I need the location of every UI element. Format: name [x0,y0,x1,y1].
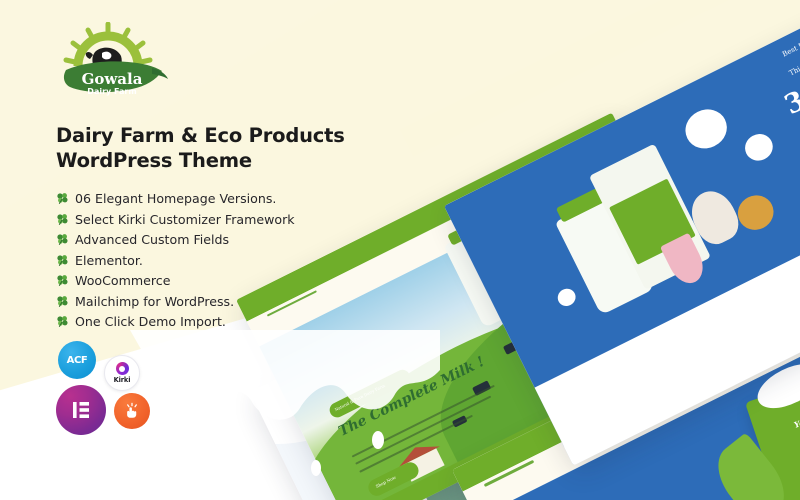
clover-leaf-icon [56,295,69,308]
clover-leaf-icon [56,274,69,287]
click-pointer-glyph-icon [123,402,141,420]
feature-list: 06 Elegant Homepage Versions. Select Kir… [56,191,356,330]
feature-item: Elementor. [56,253,356,268]
feature-label: Advanced Custom Fields [75,232,229,247]
logo-artwork: Gowala Dairy Farm [60,22,172,104]
page-title-line1: Dairy Farm & Eco Products [56,124,356,149]
feature-label: 06 Elegant Homepage Versions. [75,191,276,206]
logo-brand-text: Gowala [82,70,143,88]
page-title: Dairy Farm & Eco Products WordPress Them… [56,124,356,174]
clover-leaf-icon [56,192,69,205]
feature-label: Elementor. [75,253,143,268]
feature-label: Select Kirki Customizer Framework [75,212,295,227]
feature-item: One Click Demo Import. [56,314,356,329]
one-click-hand-icon[interactable] [114,393,150,429]
feature-item: 06 Elegant Homepage Versions. [56,191,356,206]
feature-item: Advanced Custom Fields [56,232,356,247]
feature-label: Mailchimp for WordPress. [75,294,234,309]
feature-label: WooCommerce [75,273,170,288]
kirki-ring-icon [116,362,129,375]
poster-canvas: Farm Gallery [0,0,800,500]
clover-leaf-icon [56,315,69,328]
feature-item: Mailchimp for WordPress. [56,294,356,309]
page-title-line2: WordPress Theme [56,149,356,174]
kirki-badge-label: Kirki [114,376,131,384]
plugin-badge-group: ACF Kirki [56,341,216,436]
feature-label: One Click Demo Import. [75,314,226,329]
feature-item: WooCommerce [56,273,356,288]
milk-droplet [311,460,321,476]
feature-item: Select Kirki Customizer Framework [56,212,356,227]
milk-droplet [233,440,247,460]
clover-leaf-icon [56,233,69,246]
acf-badge-icon[interactable]: ACF [58,341,96,379]
acf-badge-label: ACF [67,355,88,366]
elementor-badge-icon[interactable] [56,385,106,435]
clover-leaf-icon [56,213,69,226]
elementor-glyph-icon [70,399,92,421]
left-content-column: Gowala Dairy Farm Dairy Farm & Eco Produ… [56,22,356,436]
clover-leaf-icon [56,254,69,267]
milk-droplet [372,431,384,449]
kirki-badge-icon[interactable]: Kirki [104,355,140,391]
logo-tagline-text: Dairy Farm [87,87,136,96]
logo[interactable]: Gowala Dairy Farm [60,22,172,104]
